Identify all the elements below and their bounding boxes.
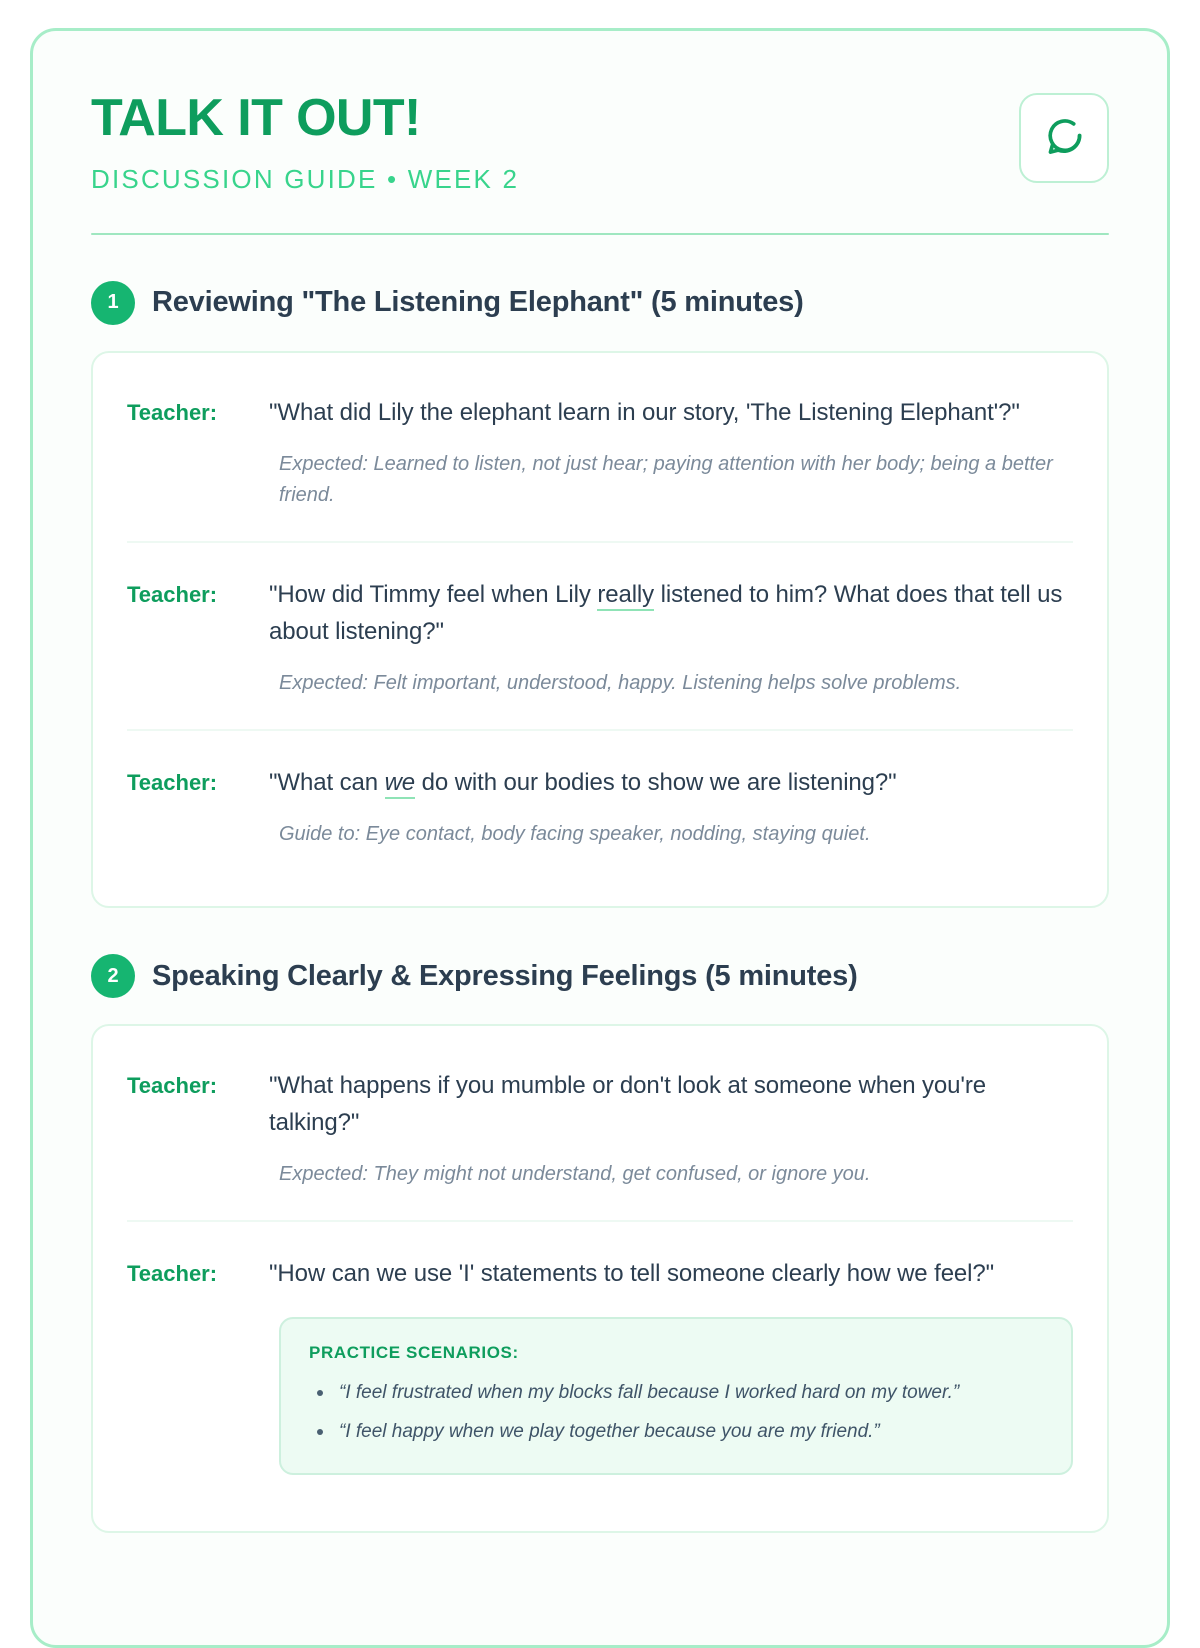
question-part: "What did Lily the elephant learn in our… bbox=[269, 399, 1020, 426]
page-title: TALK IT OUT! bbox=[91, 91, 519, 146]
question-part: "What can bbox=[269, 769, 385, 796]
section-2-title: Speaking Clearly & Expressing Feelings (… bbox=[152, 960, 858, 993]
expected-answer: Expected: They might not understand, get… bbox=[279, 1159, 1073, 1190]
expected-answer: Expected: Felt important, understood, ha… bbox=[279, 668, 1073, 699]
qa-row: Teacher: "How did Timmy feel when Lily r… bbox=[127, 541, 1073, 729]
title-block: TALK IT OUT! DISCUSSION GUIDE • WEEK 2 bbox=[91, 89, 519, 195]
practice-scenarios-title: PRACTICE SCENARIOS: bbox=[309, 1343, 1043, 1363]
expected-answer: Expected: Learned to listen, not just he… bbox=[279, 449, 1073, 511]
question-text: "What happens if you mumble or don't loo… bbox=[269, 1068, 1073, 1141]
qa-body: "What can we do with our bodies to show … bbox=[269, 765, 1073, 850]
document-header: TALK IT OUT! DISCUSSION GUIDE • WEEK 2 bbox=[91, 89, 1109, 195]
section-2-qa-card: Teacher: "What happens if you mumble or … bbox=[91, 1024, 1109, 1532]
speaker-label: Teacher: bbox=[127, 577, 245, 699]
speaker-label: Teacher: bbox=[127, 395, 245, 511]
emphasis-underline: really bbox=[597, 581, 654, 611]
speaker-label: Teacher: bbox=[127, 1068, 245, 1190]
section-1-header: 1 Reviewing "The Listening Elephant" (5 … bbox=[91, 281, 1109, 325]
practice-scenarios-box: PRACTICE SCENARIOS: “I feel frustrated w… bbox=[279, 1317, 1073, 1475]
question-text: "What can we do with our bodies to show … bbox=[269, 765, 1073, 801]
chat-bubble-icon bbox=[1042, 114, 1086, 163]
qa-row: Teacher: "What did Lily the elephant lea… bbox=[127, 361, 1073, 541]
question-part: "What happens if you mumble or don't loo… bbox=[269, 1072, 986, 1135]
question-part: "How can we use 'I' statements to tell s… bbox=[269, 1260, 994, 1287]
list-item: “I feel frustrated when my blocks fall b… bbox=[309, 1379, 1043, 1408]
question-part: "How did Timmy feel when Lily bbox=[269, 581, 597, 608]
qa-row: Teacher: "What can we do with our bodies… bbox=[127, 729, 1073, 872]
question-text: "How can we use 'I' statements to tell s… bbox=[269, 1256, 1073, 1292]
chat-bubble-badge bbox=[1019, 93, 1109, 183]
qa-body: "How did Timmy feel when Lily really lis… bbox=[269, 577, 1073, 699]
section-1-number: 1 bbox=[91, 281, 135, 325]
section-1-title: Reviewing "The Listening Elephant" (5 mi… bbox=[152, 286, 804, 319]
question-text: "How did Timmy feel when Lily really lis… bbox=[269, 577, 1073, 650]
qa-row: Teacher: "What happens if you mumble or … bbox=[127, 1034, 1073, 1220]
document-page: TALK IT OUT! DISCUSSION GUIDE • WEEK 2 1… bbox=[30, 28, 1170, 1648]
speaker-label: Teacher: bbox=[127, 1256, 245, 1474]
question-part: do with our bodies to show we are listen… bbox=[415, 769, 897, 796]
qa-body: "How can we use 'I' statements to tell s… bbox=[269, 1256, 1073, 1474]
page-subtitle: DISCUSSION GUIDE • WEEK 2 bbox=[91, 164, 519, 195]
section-1-qa-card: Teacher: "What did Lily the elephant lea… bbox=[91, 351, 1109, 909]
qa-body: "What happens if you mumble or don't loo… bbox=[269, 1068, 1073, 1190]
practice-scenarios-list: “I feel frustrated when my blocks fall b… bbox=[309, 1379, 1043, 1447]
section-2-header: 2 Speaking Clearly & Expressing Feelings… bbox=[91, 954, 1109, 998]
emphasis-underline: we bbox=[385, 769, 415, 799]
speaker-label: Teacher: bbox=[127, 765, 245, 850]
header-divider bbox=[91, 233, 1109, 235]
question-text: "What did Lily the elephant learn in our… bbox=[269, 395, 1073, 431]
list-item: “I feel happy when we play together beca… bbox=[309, 1418, 1043, 1447]
section-2-number: 2 bbox=[91, 954, 135, 998]
guide-note: Guide to: Eye contact, body facing speak… bbox=[279, 819, 1073, 850]
section-2: 2 Speaking Clearly & Expressing Feelings… bbox=[91, 954, 1109, 1532]
section-1: 1 Reviewing "The Listening Elephant" (5 … bbox=[91, 281, 1109, 909]
qa-body: "What did Lily the elephant learn in our… bbox=[269, 395, 1073, 511]
qa-row: Teacher: "How can we use 'I' statements … bbox=[127, 1220, 1073, 1496]
